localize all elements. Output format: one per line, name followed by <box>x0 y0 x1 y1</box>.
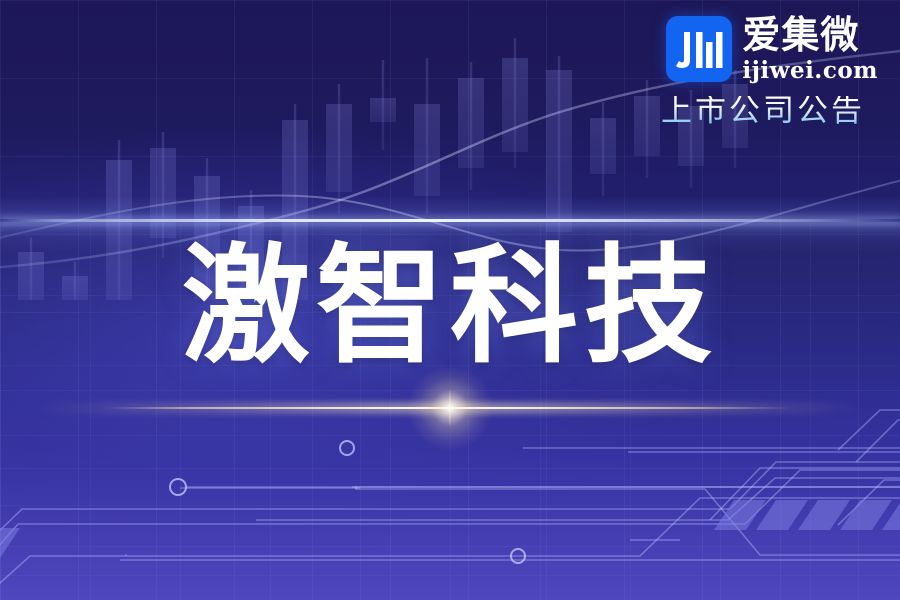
circuit-outline-5 <box>710 468 900 520</box>
circuit-node-1 <box>170 479 186 495</box>
circuit-outline-1 <box>0 462 900 540</box>
circuit-chevron <box>756 500 808 530</box>
candle-wick <box>338 84 340 214</box>
brand-logo-row: 爱集微 ijiwei.com <box>648 16 878 82</box>
brand-subtitle: 上市公司公告 <box>648 96 878 127</box>
circuit-outline-8 <box>838 480 900 525</box>
circuit-chevron <box>840 500 892 530</box>
lens-flare-glow <box>36 402 864 414</box>
candle-wick <box>470 62 472 190</box>
announcement-banner: 激智科技 爱集微 ijiwei.com 上市公司公告 <box>0 0 900 600</box>
candle-body <box>326 104 352 192</box>
brand-text-column: 爱集微 ijiwei.com <box>742 16 878 82</box>
candle-wick <box>514 38 516 168</box>
circuit-trace-1b <box>355 489 900 555</box>
circuit-chevron <box>0 528 20 558</box>
circuit-outline-7 <box>856 420 900 462</box>
lens-flare-line <box>108 407 792 409</box>
page-title: 激智科技 <box>0 238 900 376</box>
circuit-node-2 <box>340 441 354 455</box>
circuit-outline-6 <box>838 410 900 450</box>
candle-body <box>590 118 616 174</box>
circuit-outline-4 <box>256 478 900 520</box>
candle-wick <box>426 58 428 214</box>
candle-body <box>458 78 484 168</box>
candle-wick <box>382 60 384 150</box>
candle-body <box>502 58 528 152</box>
candle-body <box>370 98 396 122</box>
candle-body <box>546 70 572 232</box>
circuit-outline-3 <box>0 498 900 592</box>
candle-wick <box>602 102 604 196</box>
lens-flare-spike <box>449 388 451 428</box>
candle-body <box>150 148 176 238</box>
circuit-outline-2 <box>0 470 900 556</box>
circuit-chevron <box>714 500 766 530</box>
lens-flare <box>0 385 900 433</box>
bar-chart-j-logo-icon <box>666 16 732 82</box>
circuit-chevron-group <box>0 500 900 558</box>
circuit-node-3 <box>511 549 525 563</box>
candle-wick <box>558 56 560 258</box>
horizon-light-line <box>0 219 900 222</box>
circuit-chevron <box>798 500 850 530</box>
candle-body <box>414 104 440 196</box>
brand-name-en: ijiwei.com <box>742 59 878 82</box>
circuit-chevron <box>882 500 900 530</box>
brand-logo-block: 爱集微 ijiwei.com 上市公司公告 <box>648 16 878 127</box>
brand-name-cn: 爱集微 <box>742 16 859 54</box>
